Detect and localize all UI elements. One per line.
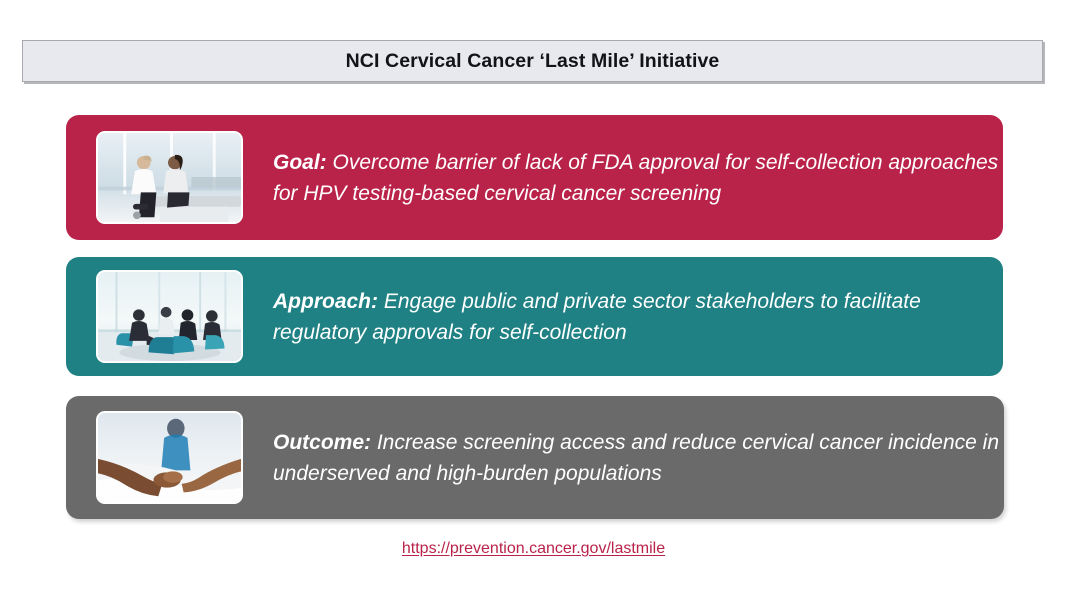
banner-outcome-body: Increase screening access and reduce cer…: [273, 431, 999, 485]
banner-approach-lead: Approach:: [273, 290, 378, 313]
page-title: NCI Cervical Cancer ‘Last Mile’ Initiati…: [346, 50, 720, 73]
banner-approach-text: Approach: Engage public and private sect…: [273, 286, 1003, 348]
clinician-patient-consultation-photo: [96, 131, 243, 224]
banner-goal-text: Goal: Overcome barrier of lack of FDA ap…: [273, 147, 1003, 209]
banner-goal-body: Overcome barrier of lack of FDA approval…: [273, 151, 998, 205]
banner-outcome-text: Outcome: Increase screening access and r…: [273, 427, 1004, 489]
caregiver-holding-patient-hand-photo: [96, 411, 243, 504]
banner-goal: Goal: Overcome barrier of lack of FDA ap…: [66, 115, 1003, 240]
banner-goal-lead: Goal:: [273, 151, 327, 174]
stakeholder-meeting-photo: [96, 270, 243, 363]
banner-outcome-lead: Outcome:: [273, 431, 371, 454]
banner-approach: Approach: Engage public and private sect…: [66, 257, 1003, 376]
banner-outcome: Outcome: Increase screening access and r…: [66, 396, 1004, 519]
lastmile-website-link[interactable]: https://prevention.cancer.gov/lastmile: [402, 540, 665, 557]
slide-canvas: NCI Cervical Cancer ‘Last Mile’ Initiati…: [0, 0, 1067, 600]
slide-title-bar: NCI Cervical Cancer ‘Last Mile’ Initiati…: [22, 40, 1043, 82]
footer: https://prevention.cancer.gov/lastmile: [0, 540, 1067, 558]
